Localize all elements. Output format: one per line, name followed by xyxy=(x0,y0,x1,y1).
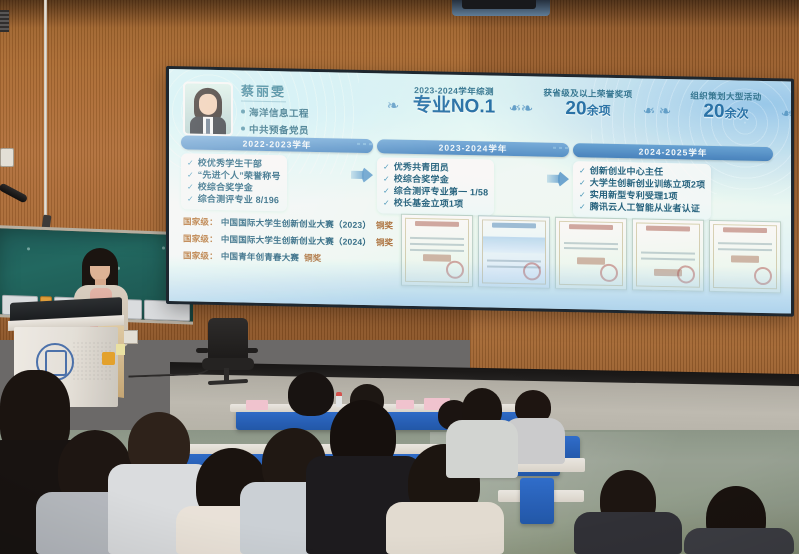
list-item: ✓校综合奖学金 xyxy=(383,173,488,186)
achievement-text: “先进个人”荣誉称号 xyxy=(198,170,281,183)
audience-body xyxy=(446,420,518,478)
check-icon: ✓ xyxy=(383,197,390,208)
achievement-list: ✓校优秀学生干部 ✓“先进个人”荣誉称号 ✓校综合奖学金 ✓综合测评专业 8/1… xyxy=(181,153,287,211)
lecture-hall-photo: 蔡丽雯 海洋信息工程 中共预备党员 2023-2024学年综测 ❧ ❧ 专业NO… xyxy=(0,0,799,554)
laurel-icon: ❧ xyxy=(385,93,401,119)
achievement-list: ✓优秀共青团员 ✓校综合奖学金 ✓综合测评专业第一 1/58 ✓校长基金立项1项 xyxy=(377,157,494,215)
profile-party-status: 中共预备党员 xyxy=(249,122,309,137)
ceiling-projector xyxy=(462,0,536,9)
student-name: 蔡丽雯 xyxy=(241,81,286,103)
list-item: ✓校综合奖学金 xyxy=(187,181,281,194)
achievement-text: 校综合奖学金 xyxy=(198,182,253,194)
timeline-columns: 2022-2023学年 ✓校优秀学生干部 ✓“先进个人”荣誉称号 ✓校综合奖学金… xyxy=(181,135,783,223)
timeline-arrow-icon xyxy=(351,165,373,185)
national-award-row: 国家级： 中国国际大学生创新创业大赛（2024） 铜奖 xyxy=(183,232,398,248)
wall-vent xyxy=(0,10,9,32)
timeline-column-2024: 2024-2025学年 ✓创新创业中心主任 ✓大学生创新创业训练立项2项 ✓实用… xyxy=(573,143,773,161)
achievement-text: 腾讯云人工智能从业者认证 xyxy=(590,202,700,215)
profile-bullet: 中共预备党员 xyxy=(241,122,363,138)
list-item: ✓“先进个人”荣誉称号 xyxy=(187,169,281,182)
achievement-text: 校长基金立项1项 xyxy=(394,198,464,210)
timeline-connector xyxy=(357,143,375,145)
ceiling-shadow xyxy=(0,0,799,28)
award-name: 中国国际大学生创新创业大赛（2023） xyxy=(221,216,371,231)
check-icon: ✓ xyxy=(187,181,194,192)
paper-sheet xyxy=(246,400,268,410)
stat-rank: 2023-2024学年综测 ❧ ❧ 专业NO.1 xyxy=(379,83,529,118)
year-pill: 2023-2024学年 xyxy=(377,139,569,157)
stat-number: 20 xyxy=(703,101,724,122)
id-portrait-photo xyxy=(183,81,233,136)
award-level-label: 国家级： xyxy=(183,232,218,245)
office-chair xyxy=(196,318,258,390)
achievement-text: 优秀共青团员 xyxy=(394,162,449,174)
wall-switch[interactable] xyxy=(0,148,14,167)
achievement-text: 校优秀学生干部 xyxy=(198,158,262,170)
achievement-text: 综合测评专业第一 1/58 xyxy=(394,186,489,199)
award-level-label: 国家级： xyxy=(183,215,218,228)
check-icon: ✓ xyxy=(579,165,586,176)
list-item: ✓综合测评专业 8/196 xyxy=(187,193,281,206)
national-award-row: 国家级： 中国国际大学生创新创业大赛（2023） 铜奖 xyxy=(183,215,398,231)
projection-screen: 蔡丽雯 海洋信息工程 中共预备党员 2023-2024学年综测 ❧ ❧ 专业NO… xyxy=(166,66,794,317)
award-name: 中国国际大学生创新创业大赛（2024） xyxy=(221,233,371,248)
check-icon: ✓ xyxy=(579,177,586,188)
laurel-icon: ❧ xyxy=(519,96,535,122)
list-item: ✓腾讯云人工智能从业者认证 xyxy=(579,201,705,215)
profile-bullet: 海洋信息工程 xyxy=(241,105,363,121)
year-pill: 2024-2025学年 xyxy=(573,143,773,161)
profile-major: 海洋信息工程 xyxy=(249,105,309,120)
stat-unit: 余项 xyxy=(587,103,611,117)
audience-head xyxy=(288,372,334,416)
award-medal: 铜奖 xyxy=(376,236,393,248)
timeline-connector xyxy=(553,147,571,149)
check-icon: ✓ xyxy=(383,185,390,196)
stat-number: 20 xyxy=(565,98,586,119)
list-item: ✓综合测评专业第一 1/58 xyxy=(383,185,488,198)
list-item: ✓校优秀学生干部 xyxy=(187,157,281,170)
check-icon: ✓ xyxy=(187,169,194,180)
presentation-slide: 蔡丽雯 海洋信息工程 中共预备党员 2023-2024学年综测 ❧ ❧ 专业NO… xyxy=(169,69,791,313)
podium-amber-panel xyxy=(102,352,115,365)
list-item: ✓校长基金立项1项 xyxy=(383,197,488,210)
stat-provincial-awards: 获省级及以上荣誉奖项 ❧ ❧ 20余项 xyxy=(513,86,663,121)
laurel-icon: ❧ xyxy=(779,101,791,127)
profile-name-block: 蔡丽雯 海洋信息工程 中共预备党员 xyxy=(241,81,363,138)
year-pill: 2022-2023学年 xyxy=(181,135,373,153)
podium-tag xyxy=(116,344,125,355)
audience-body xyxy=(684,528,794,554)
laurel-icon: ❧ xyxy=(657,99,673,125)
achievement-text: 创新创业中心主任 xyxy=(590,166,664,178)
check-icon: ✓ xyxy=(579,201,586,212)
list-item: ✓优秀共青团员 xyxy=(383,161,488,174)
stat-events-organized: 组织策划大型活动 ❧ ❧ 20余次 xyxy=(651,89,791,124)
timeline-arrow-icon xyxy=(547,169,569,189)
hanging-pole xyxy=(44,0,47,218)
stat-unit: 余次 xyxy=(725,106,749,120)
achievement-list: ✓创新创业中心主任 ✓大学生创新创业训练立项2项 ✓实用新型专利受理1项 ✓腾讯… xyxy=(573,161,711,220)
check-icon: ✓ xyxy=(383,173,390,184)
bullet-dot-icon xyxy=(241,127,245,131)
paper-sheet xyxy=(396,400,414,409)
check-icon: ✓ xyxy=(187,157,194,168)
audience-body xyxy=(574,512,682,554)
timeline-column-2023: 2023-2024学年 ✓优秀共青团员 ✓校综合奖学金 ✓综合测评专业第一 1/… xyxy=(377,139,569,157)
achievement-text: 综合测评专业 8/196 xyxy=(198,194,279,207)
achievement-text: 校综合奖学金 xyxy=(394,174,449,186)
desk-row xyxy=(520,478,554,524)
bullet-dot-icon xyxy=(241,110,245,114)
achievement-text: 大学生创新创业训练立项2项 xyxy=(590,178,706,191)
water-bottle xyxy=(336,392,342,407)
check-icon: ✓ xyxy=(579,189,586,200)
audience-body xyxy=(386,502,504,554)
award-medal: 铜奖 xyxy=(376,219,393,231)
check-icon: ✓ xyxy=(383,161,390,172)
achievement-text: 实用新型专利受理1项 xyxy=(590,190,678,203)
timeline-column-2022: 2022-2023学年 ✓校优秀学生干部 ✓“先进个人”荣誉称号 ✓校综合奖学金… xyxy=(181,135,373,153)
check-icon: ✓ xyxy=(187,193,194,204)
